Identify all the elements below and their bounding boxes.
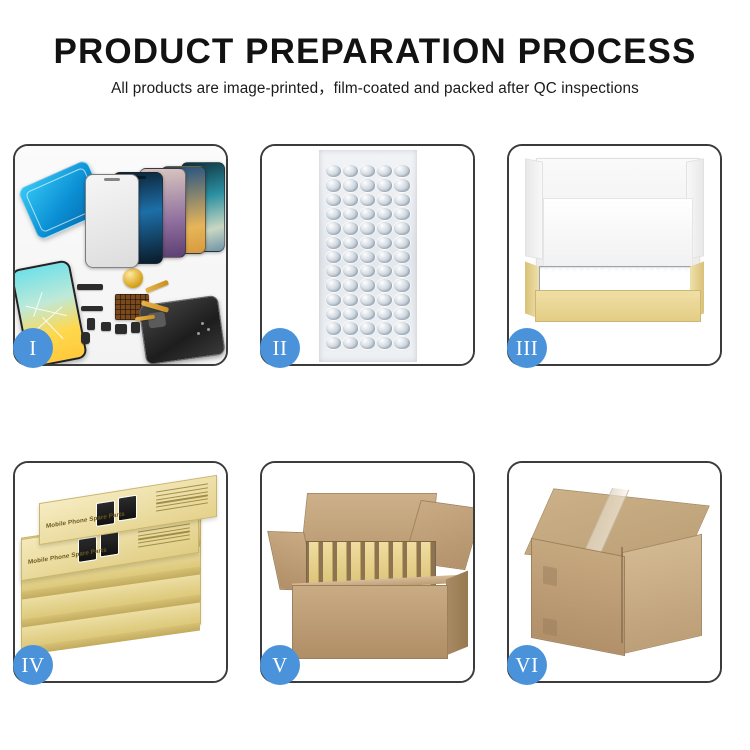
sealed-carton-right-icon xyxy=(622,534,702,654)
bubble-icon xyxy=(325,250,342,264)
bubble-icon xyxy=(342,250,359,264)
part-socket-icon xyxy=(131,322,140,333)
bubble-icon xyxy=(359,236,376,250)
process-step-grid: I II III xyxy=(13,144,737,683)
bubble-icon xyxy=(325,178,342,192)
carton-tab-icon xyxy=(543,566,557,587)
step-number-badge-3: III xyxy=(507,328,547,368)
mailer-lid-wing-left-icon xyxy=(525,158,543,259)
process-step-panel-6[interactable]: VI xyxy=(507,461,722,683)
bubble-icon xyxy=(325,164,342,178)
bubble-icon xyxy=(393,164,410,178)
bubble-icon xyxy=(359,178,376,192)
bubble-icon xyxy=(342,236,359,250)
bubble-icon xyxy=(342,207,359,221)
bubble-icon xyxy=(325,221,342,235)
step-1-illustration xyxy=(15,146,226,364)
bubble-icon xyxy=(359,207,376,221)
phone-icon-1 xyxy=(85,174,139,268)
bubble-icon xyxy=(325,321,342,335)
carton-front-icon xyxy=(292,585,448,659)
bubble-icon xyxy=(376,193,393,207)
bubble-icon xyxy=(359,164,376,178)
bubble-icon xyxy=(325,336,342,350)
part-connector-icon xyxy=(81,306,103,311)
bubble-icon xyxy=(393,236,410,250)
bubble-icon xyxy=(376,293,393,307)
part-sensor-icon xyxy=(115,324,127,334)
phone-fan-group xyxy=(77,160,217,268)
screw-icon xyxy=(207,328,210,331)
bubble-wrap-sleeve-icon xyxy=(319,150,417,362)
step-2-illustration xyxy=(262,146,473,364)
bubble-icon xyxy=(376,164,393,178)
bubble-icon xyxy=(393,336,410,350)
crack-line xyxy=(33,292,43,317)
bubble-icon xyxy=(393,293,410,307)
step-5-illustration xyxy=(262,463,473,681)
carton-seam-icon xyxy=(621,547,623,643)
bubble-icon xyxy=(342,193,359,207)
bubble-icon xyxy=(376,250,393,264)
process-step-panel-3[interactable]: III xyxy=(507,144,722,366)
bubble-icon xyxy=(359,293,376,307)
screw-icon xyxy=(197,332,200,335)
bubble-icon xyxy=(393,207,410,221)
bubble-icon xyxy=(376,321,393,335)
vibration-motor-icon xyxy=(123,268,143,288)
process-step-panel-2[interactable]: II xyxy=(260,144,475,366)
step-number-badge-1: I xyxy=(13,328,53,368)
bubble-icon xyxy=(376,207,393,221)
step-6-illustration xyxy=(509,463,720,681)
process-step-panel-4[interactable]: Mobile Phone Spare Parts Mobile Phone Sp… xyxy=(13,461,228,683)
bubble-icon xyxy=(359,250,376,264)
bubble-icon xyxy=(325,264,342,278)
bubble-icon xyxy=(376,236,393,250)
screw-icon xyxy=(201,322,204,325)
bubble-icon xyxy=(393,278,410,292)
part-speaker-icon xyxy=(77,284,103,290)
bubble-icon xyxy=(393,321,410,335)
bubble-icon xyxy=(393,307,410,321)
bubble-icon xyxy=(342,321,359,335)
step-4-illustration: Mobile Phone Spare Parts Mobile Phone Sp… xyxy=(15,463,226,681)
bubble-icon xyxy=(393,264,410,278)
phone-notch-icon xyxy=(104,178,120,181)
bubble-icon xyxy=(325,236,342,250)
bubble-icon xyxy=(325,278,342,292)
bubble-icon xyxy=(359,264,376,278)
bubble-icon xyxy=(359,336,376,350)
bubble-icon xyxy=(342,293,359,307)
step-number-badge-6: VI xyxy=(507,645,547,685)
sealed-carton-front-icon xyxy=(531,538,625,656)
bubble-icon xyxy=(342,221,359,235)
bubble-icon xyxy=(359,193,376,207)
part-battery-icon xyxy=(81,332,90,344)
foam-insert-icon xyxy=(543,198,693,268)
bubble-icon xyxy=(393,178,410,192)
process-step-panel-5[interactable]: V xyxy=(260,461,475,683)
process-step-panel-1[interactable]: I xyxy=(13,144,228,366)
bubble-icon xyxy=(376,221,393,235)
bubble-icon xyxy=(393,193,410,207)
bubble-icon xyxy=(359,307,376,321)
bubble-icon xyxy=(376,307,393,321)
bubble-icon xyxy=(376,178,393,192)
mailer-front-panel-icon xyxy=(535,290,701,322)
bubble-icon xyxy=(376,264,393,278)
flex-cable-icon xyxy=(145,280,169,294)
step-number-badge-5: V xyxy=(260,645,300,685)
bubble-icon xyxy=(342,264,359,278)
bubble-icon xyxy=(325,307,342,321)
page-subtitle: All products are image-printed，film-coat… xyxy=(0,81,750,98)
box-detail-lines-1 xyxy=(156,483,208,514)
part-button-icon xyxy=(87,318,95,330)
bubble-icon xyxy=(342,307,359,321)
bubble-icon xyxy=(342,278,359,292)
bubble-icon xyxy=(342,336,359,350)
bubble-icon xyxy=(359,221,376,235)
bubble-icon xyxy=(376,278,393,292)
bubble-icon xyxy=(359,278,376,292)
bubble-grid xyxy=(325,164,411,350)
bubble-icon xyxy=(325,193,342,207)
box-stack: Mobile Phone Spare Parts Mobile Phone Sp… xyxy=(17,481,226,671)
bubble-icon xyxy=(342,164,359,178)
page-title: PRODUCT PREPARATION PROCESS xyxy=(0,34,750,71)
bubble-icon xyxy=(376,336,393,350)
carton-side-icon xyxy=(446,571,468,656)
page-header: PRODUCT PREPARATION PROCESS All products… xyxy=(0,0,750,98)
bubble-icon xyxy=(342,178,359,192)
step-number-badge-4: IV xyxy=(13,645,53,685)
bubble-icon xyxy=(359,321,376,335)
bubble-icon xyxy=(325,207,342,221)
bubble-icon xyxy=(393,250,410,264)
part-camera-icon xyxy=(101,322,111,331)
carton-tab-icon xyxy=(543,618,557,637)
bubble-icon xyxy=(393,221,410,235)
step-3-illustration xyxy=(509,146,720,364)
bubble-icon xyxy=(325,293,342,307)
step-number-badge-2: II xyxy=(260,328,300,368)
